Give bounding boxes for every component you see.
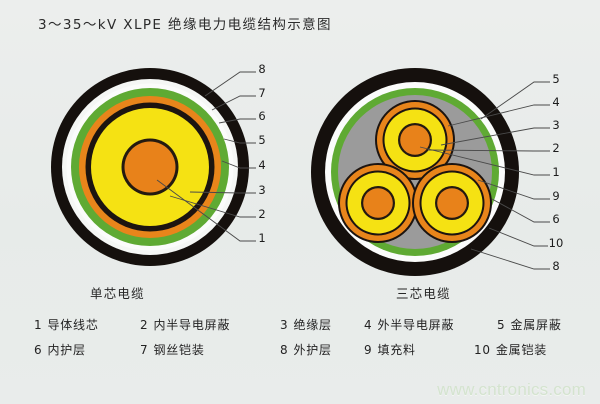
three-core-cable-drawing [311,68,550,276]
legend-label-9: 填充料 [377,343,415,357]
three-label-10: 10 [546,236,566,250]
three-label-4: 4 [548,95,564,109]
caption-three-core-cable: 三芯电缆 [396,283,451,302]
single-conductor-core [125,142,176,193]
legend-row-2: 6内护层 7钢丝铠装 8外护层 9填充料 10金属铠装 [34,341,574,366]
legend-item-2: 2内半导电屏蔽 [140,316,230,333]
legend-item-8: 8外护层 [280,341,332,358]
core-bl-conductor [363,188,393,218]
legend-item-6: 6内护层 [34,341,86,358]
legend-num-6: 6 [34,343,42,357]
legend-label-1: 导体线芯 [47,318,98,332]
site-watermark: www.cntronics.com [437,380,586,400]
legend-label-5: 金属屏蔽 [510,318,561,332]
single-label-8: 8 [254,62,270,76]
three-label-3: 3 [548,118,564,132]
legend-num-3: 3 [280,318,288,332]
legend-label-4: 外半导电屏蔽 [377,318,454,332]
legend-label-3: 绝缘层 [293,318,331,332]
legend-num-8: 8 [280,343,288,357]
legend-item-1: 1导体线芯 [34,316,99,333]
legend-label-6: 内护层 [47,343,85,357]
three-label-8: 8 [548,259,564,273]
legend-num-9: 9 [364,343,372,357]
legend-label-10: 金属铠装 [496,343,547,357]
core-br-conductor [437,188,467,218]
legend-item-10: 10金属铠装 [474,341,547,358]
single-label-6: 6 [254,109,270,123]
legend-label-2: 内半导电屏蔽 [153,318,230,332]
single-label-5: 5 [254,133,270,147]
caption-single-core-cable: 单芯电缆 [90,283,145,302]
legend-row-1: 1导体线芯 2内半导电屏蔽 3绝缘层 4外半导电屏蔽 5金属屏蔽 [34,316,574,341]
three-core-unit-bottom-left [338,163,418,243]
single-label-3: 3 [254,183,270,197]
core-top-conductor [400,125,430,155]
three-label-9: 9 [548,189,564,203]
single-label-4: 4 [254,158,270,172]
legend-item-5: 5金属屏蔽 [497,316,562,333]
three-label-2: 2 [548,141,564,155]
legend-item-3: 3绝缘层 [280,316,332,333]
three-core-unit-bottom-right [412,163,492,243]
legend-num-1: 1 [34,318,42,332]
single-core-cable-drawing [51,68,256,266]
legend-num-7: 7 [140,343,148,357]
single-label-7: 7 [254,86,270,100]
single-label-2: 2 [254,207,270,221]
legend-num-5: 5 [497,318,505,332]
legend-item-4: 4外半导电屏蔽 [364,316,454,333]
single-label-1: 1 [254,231,270,245]
legend: 1导体线芯 2内半导电屏蔽 3绝缘层 4外半导电屏蔽 5金属屏蔽 6内护层 7钢… [34,316,574,366]
legend-label-8: 外护层 [293,343,331,357]
legend-item-7: 7钢丝铠装 [140,341,205,358]
three-label-6: 6 [548,212,564,226]
three-label-1: 1 [548,165,564,179]
diagram-canvas: 3～35～kV XLPE 绝缘电力电缆结构示意图 [0,0,600,404]
three-label-5: 5 [548,72,564,86]
leader-line-8 [471,249,550,269]
legend-label-7: 钢丝铠装 [153,343,204,357]
legend-num-4: 4 [364,318,372,332]
legend-item-9: 9填充料 [364,341,416,358]
legend-num-10: 10 [474,343,491,357]
legend-num-2: 2 [140,318,148,332]
